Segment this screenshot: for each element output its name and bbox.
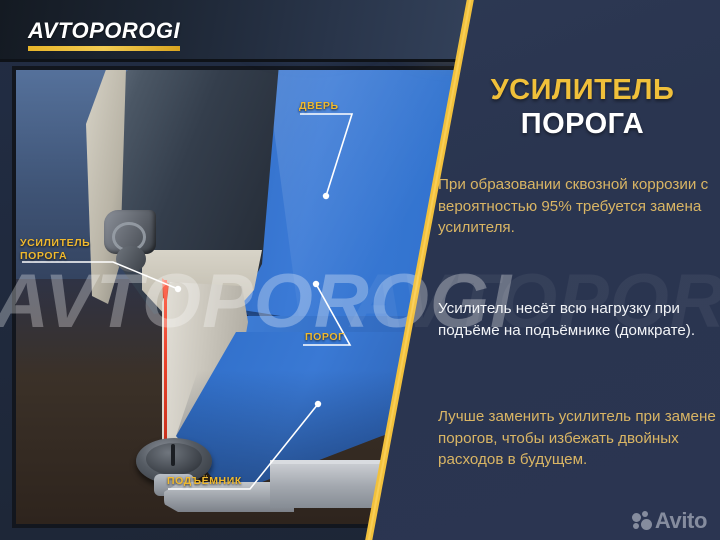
callout-reinforcement-label-line2: ПОРОГА [20,250,90,263]
callout-door: ДВЕРЬ [299,100,339,113]
callout-lift: ПОДЪЁМНИК [167,475,242,488]
callout-leader-lines [0,0,470,540]
avito-logo-icon [632,511,652,531]
callout-reinforcement-label-line1: УСИЛИТЕЛЬ [20,237,90,250]
paragraph-load: Усилитель несёт всю нагрузку при подъёме… [438,298,716,341]
page-title-line1: УСИЛИТЕЛЬ [450,76,715,105]
callout-door-label: ДВЕРЬ [299,100,339,113]
avito-wordmark: Avito [655,510,707,532]
avito-watermark: Avito [632,510,707,532]
callout-lift-label: ПОДЪЁМНИК [167,475,242,488]
paragraph-corrosion: При образовании сквозной коррозии с веро… [438,174,716,239]
avito-dot-4 [641,519,652,530]
avito-dot-1 [632,513,641,522]
page-title: УСИЛИТЕЛЬ ПОРОГА [450,76,715,139]
avito-dot-3 [633,523,639,529]
poster-canvas: AVTOPOROGI AVTOPOROGI УСИЛИТЕЛЬ ПОРОГА Д… [0,0,720,540]
avito-dot-2 [642,511,648,517]
content-column: УСИЛИТЕЛЬ ПОРОГА При образовании сквозно… [437,0,720,540]
paragraph-advice: Лучше заменить усилитель при замене поро… [438,406,716,471]
callout-sill: ПОРОГ [305,331,345,344]
callout-sill-label: ПОРОГ [305,331,345,344]
callout-reinforcement: УСИЛИТЕЛЬ ПОРОГА [20,237,90,263]
page-title-line2: ПОРОГА [450,110,715,139]
